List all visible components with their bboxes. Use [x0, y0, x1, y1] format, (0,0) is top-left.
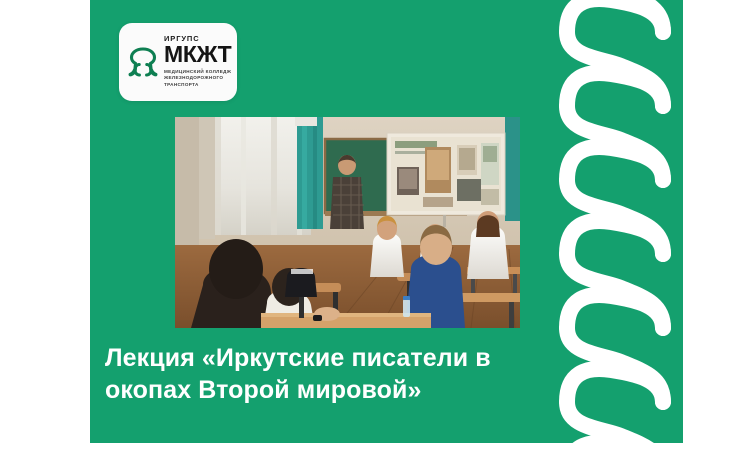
logo-text-block: ИРГУПС МКЖТ МЕДИЦИНСКИЙ КОЛЛЕДЖ ЖЕЛЕЗНОД… [164, 35, 231, 88]
caption-line-1: Лекция «Иркутские писатели в [105, 342, 545, 374]
event-photograph [175, 117, 520, 328]
logo-subtitle-line-1: МЕДИЦИНСКИЙ КОЛЛЕДЖ [164, 69, 231, 76]
irgups-emblem-icon [128, 46, 158, 78]
poster-caption: Лекция «Иркутские писатели в окопах Втор… [105, 342, 545, 406]
poster-canvas: ИРГУПС МКЖТ МЕДИЦИНСКИЙ КОЛЛЕДЖ ЖЕЛЕЗНОД… [0, 0, 750, 450]
logo-subtitle-line-2: ЖЕЛЕЗНОДОРОЖНОГО [164, 75, 231, 82]
logo-subtitle-line-3: ТРАНСПОРТА [164, 82, 231, 89]
green-banner-panel: ИРГУПС МКЖТ МЕДИЦИНСКИЙ КОЛЛЕДЖ ЖЕЛЕЗНОД… [90, 0, 683, 443]
logo-subtitle: МЕДИЦИНСКИЙ КОЛЛЕДЖ ЖЕЛЕЗНОДОРОЖНОГО ТРА… [164, 69, 231, 89]
logo-title: МКЖТ [164, 44, 231, 66]
caption-line-2: окопах Второй мировой» [105, 374, 545, 406]
institution-logo-card: ИРГУПС МКЖТ МЕДИЦИНСКИЙ КОЛЛЕДЖ ЖЕЛЕЗНОД… [119, 23, 237, 101]
serpentine-chain-ornament [545, 0, 683, 443]
